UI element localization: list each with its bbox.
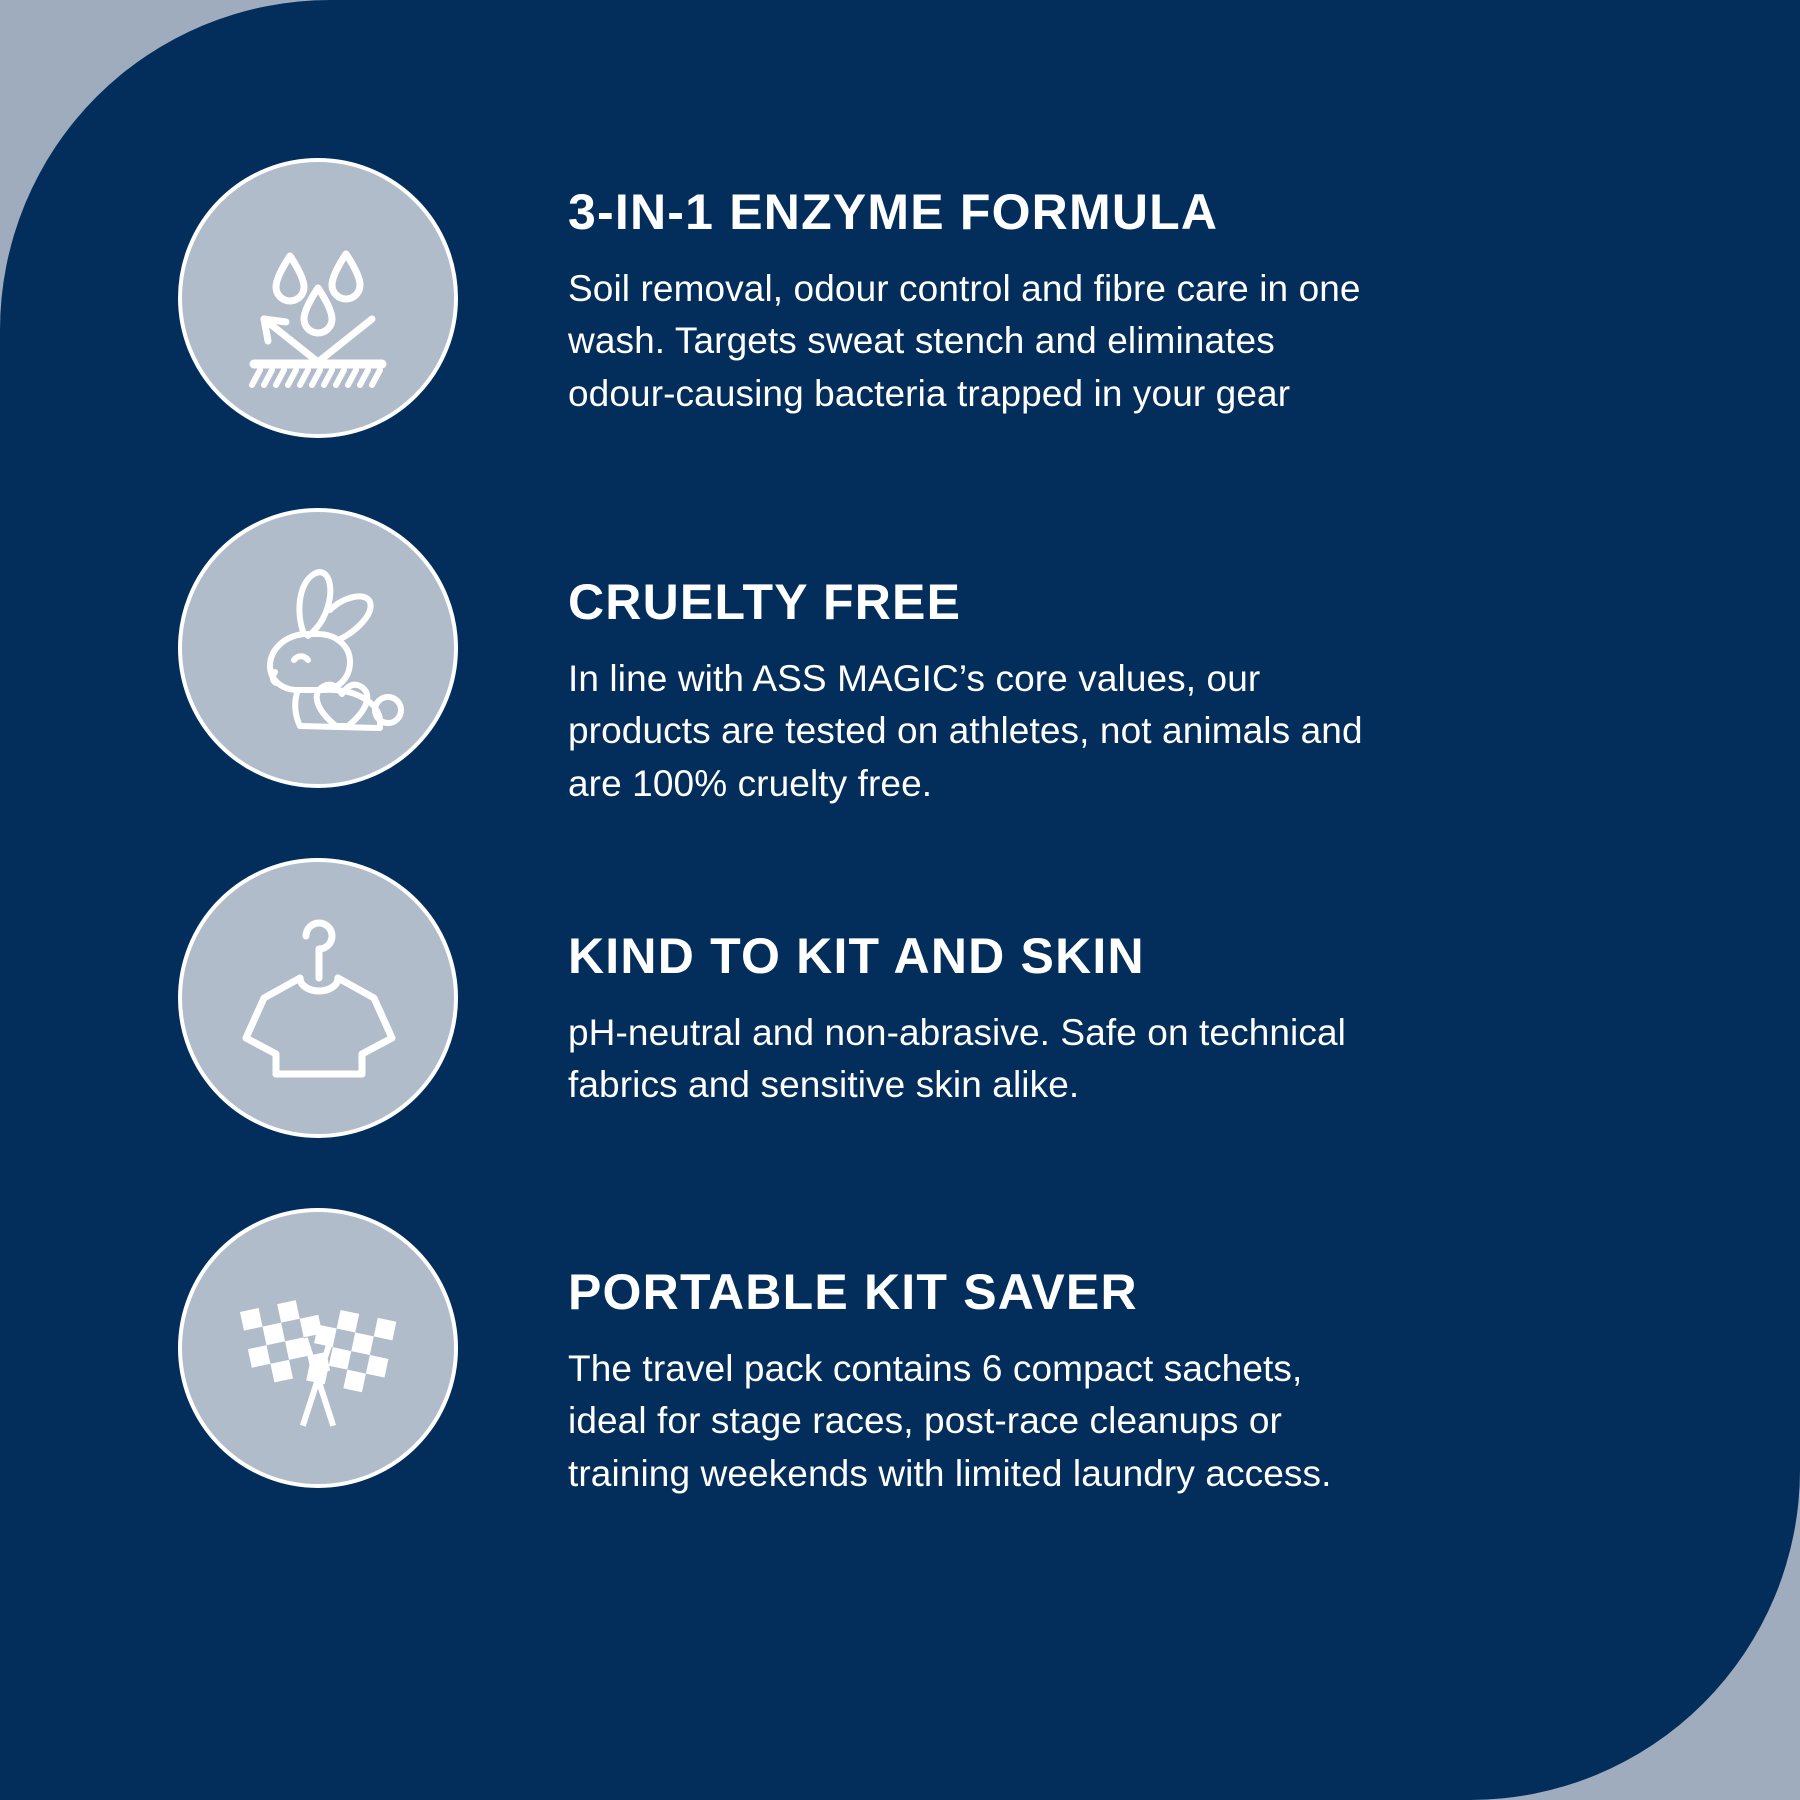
feature-list: 3-IN-1 ENZYME FORMULA Soil removal, odou…: [0, 0, 1800, 1800]
checkered-flags-icon: [178, 1208, 458, 1488]
feature-body: In line with ASS MAGIC’s core values, ou…: [568, 653, 1578, 811]
feature-title: PORTABLE KIT SAVER: [568, 1266, 1578, 1319]
feature-body: pH-neutral and non-abrasive. Safe on tec…: [568, 1007, 1578, 1112]
feature-item-enzyme-formula: 3-IN-1 ENZYME FORMULA Soil removal, odou…: [178, 158, 1578, 438]
feature-title: KIND TO KIT AND SKIN: [568, 930, 1578, 983]
feature-text-block: PORTABLE KIT SAVER The travel pack conta…: [568, 1208, 1578, 1500]
feature-item-kind-to-kit: KIND TO KIT AND SKIN pH-neutral and non-…: [178, 858, 1578, 1138]
feature-body: The travel pack contains 6 compact sache…: [568, 1343, 1578, 1501]
feature-title: CRUELTY FREE: [568, 576, 1578, 629]
feature-item-portable-kit-saver: PORTABLE KIT SAVER The travel pack conta…: [178, 1208, 1578, 1500]
feature-item-cruelty-free: CRUELTY FREE In line with ASS MAGIC’s co…: [178, 508, 1578, 810]
feature-text-block: CRUELTY FREE In line with ASS MAGIC’s co…: [568, 508, 1578, 810]
feature-text-block: 3-IN-1 ENZYME FORMULA Soil removal, odou…: [568, 158, 1578, 420]
promo-graphic: 3-IN-1 ENZYME FORMULA Soil removal, odou…: [0, 0, 1800, 1800]
feature-title: 3-IN-1 ENZYME FORMULA: [568, 186, 1578, 239]
rabbit-heart-icon: [178, 508, 458, 788]
feature-text-block: KIND TO KIT AND SKIN pH-neutral and non-…: [568, 858, 1578, 1112]
water-repellent-fabric-icon: [178, 158, 458, 438]
feature-body: Soil removal, odour control and fibre ca…: [568, 263, 1578, 421]
tshirt-hanger-icon: [178, 858, 458, 1138]
